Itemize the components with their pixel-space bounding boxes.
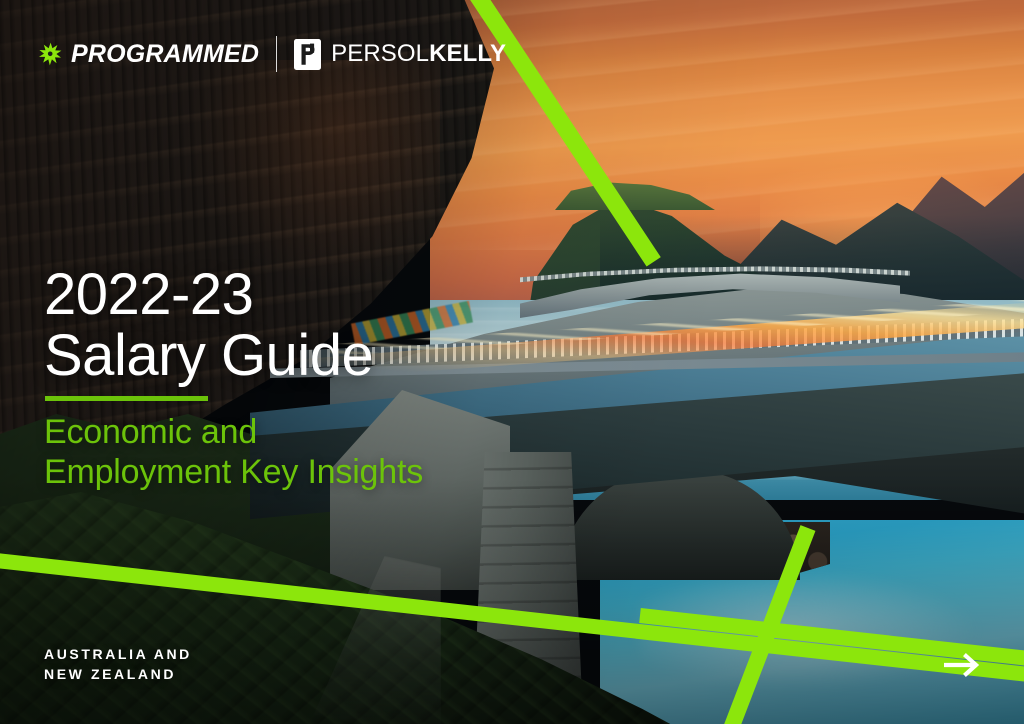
cliff-warm-light	[180, 60, 440, 290]
page-subtitle: Economic and Employment Key Insights	[44, 412, 423, 492]
logo-lockup: PROGRAMMED PERSOLKELLY	[38, 36, 506, 72]
persolkelly-logo[interactable]: PERSOLKELLY	[294, 39, 506, 70]
region-label: AUSTRALIA AND NEW ZEALAND	[44, 644, 192, 685]
green-star-burst-icon	[38, 42, 62, 66]
region-line-2: NEW ZEALAND	[44, 664, 192, 684]
next-page-arrow-icon[interactable]	[944, 652, 984, 678]
salary-guide-cover: PROGRAMMED PERSOLKELLY 2022-23 Salary Gu…	[0, 0, 1024, 724]
page-title: 2022-23 Salary Guide	[44, 264, 373, 387]
programmed-wordmark: PROGRAMMED	[71, 42, 259, 67]
region-line-1: AUSTRALIA AND	[44, 644, 192, 664]
logo-divider	[276, 36, 277, 72]
title-divider-rule	[45, 396, 208, 401]
title-line-name: Salary Guide	[44, 325, 373, 386]
subtitle-line-2: Employment Key Insights	[44, 452, 423, 492]
kelly-text: KELLY	[429, 40, 506, 67]
persolkelly-wordmark: PERSOLKELLY	[331, 42, 506, 66]
subtitle-line-1: Economic and	[44, 412, 423, 452]
persol-text: PERSOL	[331, 40, 429, 67]
persolkelly-p-mark-icon	[294, 39, 321, 70]
title-line-year: 2022-23	[44, 264, 373, 325]
programmed-logo[interactable]: PROGRAMMED	[38, 42, 259, 67]
